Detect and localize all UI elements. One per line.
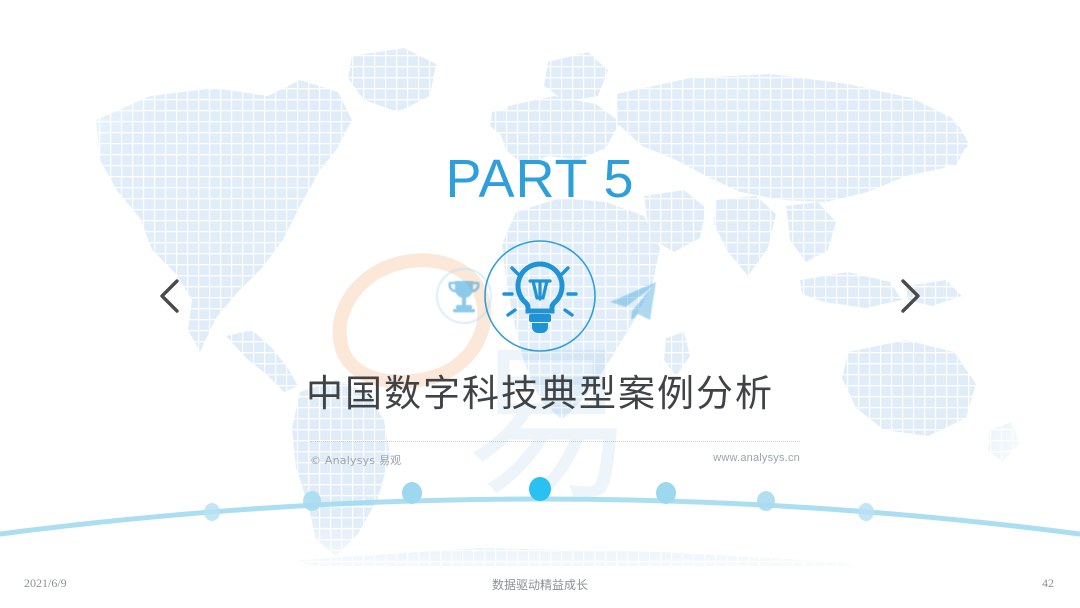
slide-canvas: 易 PART 5 <box>0 0 1080 608</box>
footer-tagline: 数据驱动精益成长 <box>0 576 1080 593</box>
prev-slide-button[interactable] <box>146 272 194 320</box>
progress-dot-1 <box>204 503 220 521</box>
part-label: PART 5 <box>0 148 1080 210</box>
progress-dot-5 <box>656 482 676 504</box>
next-slide-button[interactable] <box>886 272 934 320</box>
website-label: www.analysys.cn <box>713 452 800 464</box>
progress-dot-2 <box>303 491 321 511</box>
credit-divider <box>310 441 800 443</box>
brand-watermark-character: 易 <box>420 330 680 520</box>
footer-page-number: 42 <box>1042 576 1054 591</box>
icon-cluster <box>420 238 660 356</box>
progress-dot-7 <box>858 503 874 521</box>
slide-footer: 2021/6/9 数据驱动精益成长 42 <box>0 566 1080 608</box>
lightbulb-icon <box>482 238 598 354</box>
section-title: 中国数字科技典型案例分析 <box>0 372 1080 416</box>
paper-plane-icon <box>600 268 664 332</box>
progress-dot-3 <box>402 482 422 504</box>
progress-arc <box>0 462 1080 542</box>
progress-dot-4 <box>529 477 551 501</box>
progress-dot-6 <box>757 491 775 511</box>
chevron-left-icon <box>155 277 185 315</box>
chevron-right-icon <box>895 277 925 315</box>
copyright-label: © Analysys 易观 <box>310 452 401 468</box>
